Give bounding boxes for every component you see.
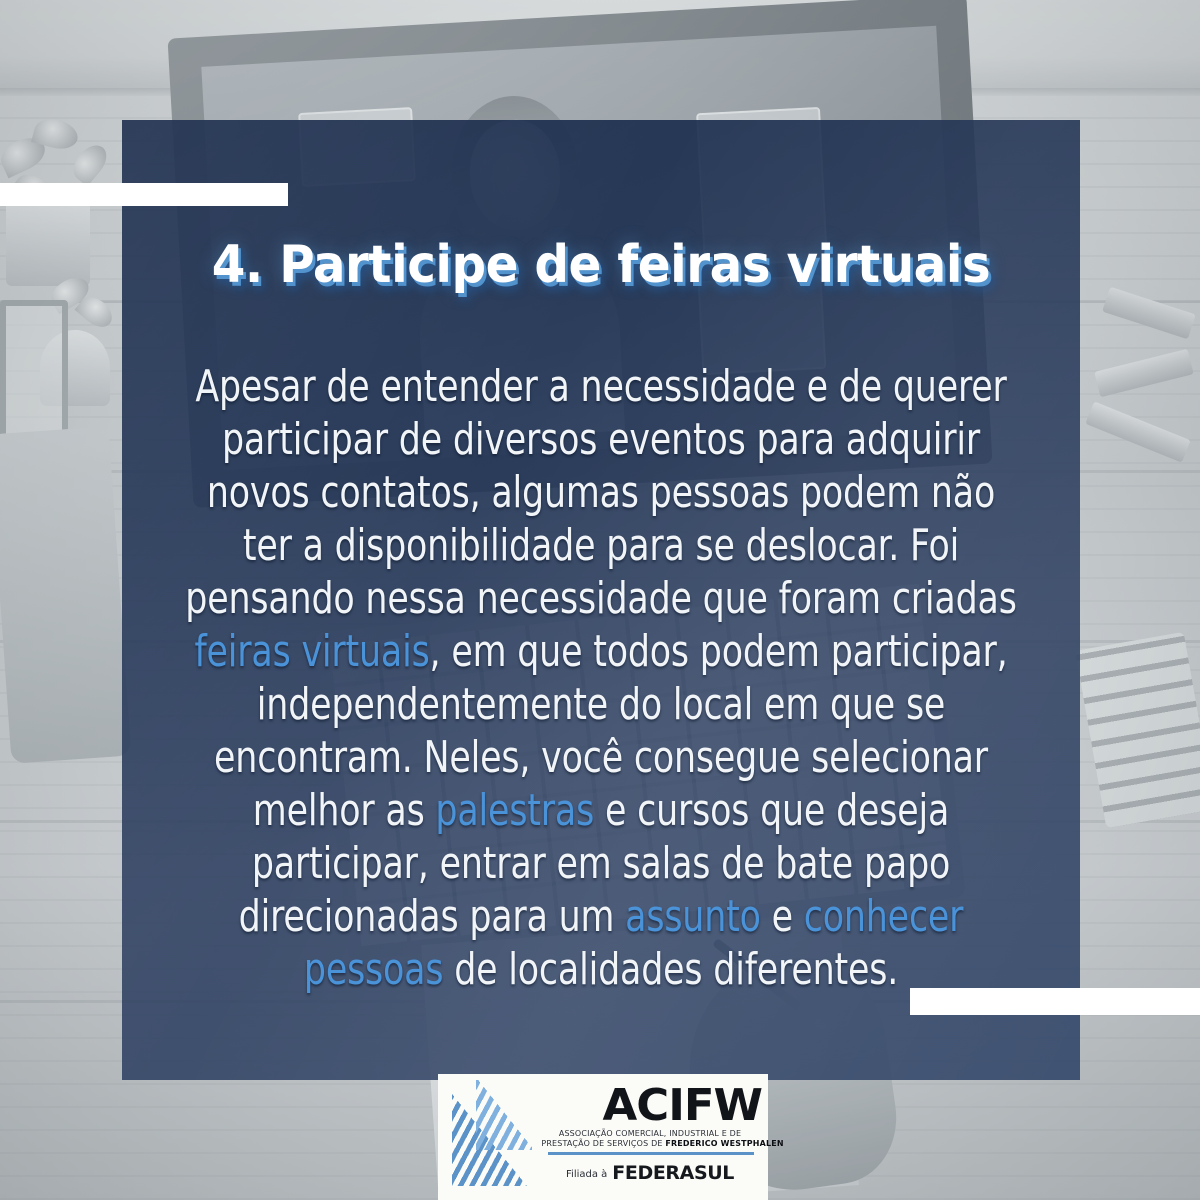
highlighted-term: feiras virtuais	[194, 626, 429, 677]
logo-subtitle-line1: ASSOCIAÇÃO COMERCIAL, INDUSTRIAL E DE	[541, 1128, 758, 1138]
federasul-wordmark: FEDERASUL	[612, 1162, 734, 1184]
logo-affiliation: Filiada àFEDERASUL	[538, 1162, 762, 1184]
logo-subtitle-prefix: PRESTAÇÃO DE SERVIÇOS DE	[541, 1138, 665, 1148]
ascending-bars-icon-secondary	[476, 1080, 532, 1150]
social-post-canvas: 4. Participe de feiras virtuais Apesar d…	[0, 0, 1200, 1200]
body-text-run: de localidades diferentes.	[443, 944, 898, 995]
acifw-logo: ACIFW ASSOCIAÇÃO COMERCIAL, INDUSTRIAL E…	[438, 1074, 768, 1200]
page-title: 4. Participe de feiras virtuais	[156, 235, 1047, 295]
logo-acronym: ACIFW	[534, 1080, 762, 1131]
body-text-run: Apesar de entender a necessidade e de qu…	[185, 361, 1016, 624]
highlighted-term: assunto	[625, 891, 761, 942]
post-body-text: Apesar de entender a necessidade e de qu…	[183, 360, 1019, 996]
highlighted-term: palestras	[435, 785, 594, 836]
logo-affiliation-prefix: Filiada à	[566, 1169, 607, 1180]
acifw-logo-card: ACIFW ASSOCIAÇÃO COMERCIAL, INDUSTRIAL E…	[438, 1074, 768, 1200]
logo-divider	[548, 1152, 754, 1155]
logo-city-name: FREDERICO WESTPHALEN	[665, 1138, 783, 1148]
post-content: 4. Participe de feiras virtuais Apesar d…	[122, 120, 1080, 1080]
logo-subtitle-line2: PRESTAÇÃO DE SERVIÇOS DE FREDERICO WESTP…	[541, 1138, 758, 1148]
body-text-run: e	[761, 891, 804, 942]
